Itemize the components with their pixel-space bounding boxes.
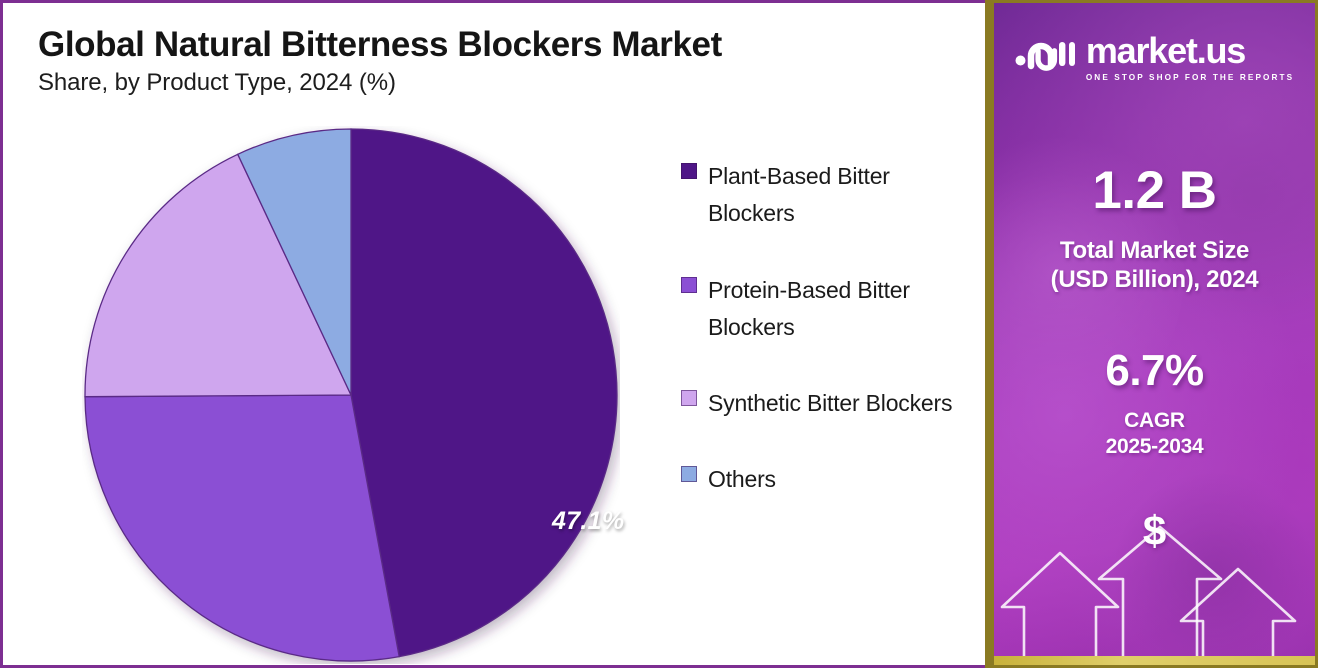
pie-slice (351, 129, 617, 657)
market-size-stat: 1.2 B Total Market Size (USD Billion), 2… (994, 163, 1315, 294)
legend-label: Protein-Based Bitter Blockers (708, 272, 971, 347)
legend-swatch-icon (681, 163, 697, 179)
market-size-caption-line2: (USD Billion), 2024 (994, 265, 1315, 294)
legend-swatch-icon (681, 466, 697, 482)
cagr-caption: CAGR 2025-2034 (994, 408, 1315, 459)
pie-svg (82, 126, 620, 664)
pie-slice-group (85, 129, 617, 661)
pie-chart: 47.1% (82, 126, 620, 664)
bottom-accent-strip (994, 656, 1315, 665)
logo-text-block: market.us ONE STOP SHOP FOR THE REPORTS (1086, 33, 1294, 82)
cagr-stat: 6.7% CAGR 2025-2034 (994, 348, 1315, 459)
pie-slice (85, 395, 399, 661)
legend-item[interactable]: Plant-Based Bitter Blockers (681, 158, 971, 233)
infographic-root: Global Natural Bitterness Blockers Marke… (0, 0, 1318, 668)
up-arrow-icon (1002, 553, 1118, 665)
legend-swatch-icon (681, 277, 697, 293)
title-block: Global Natural Bitterness Blockers Marke… (38, 25, 958, 97)
legend-swatch-icon (681, 390, 697, 406)
legend-label: Others (708, 461, 776, 498)
cagr-caption-line2: 2025-2034 (994, 434, 1315, 460)
legend-item[interactable]: Protein-Based Bitter Blockers (681, 272, 971, 347)
cagr-caption-line1: CAGR (994, 408, 1315, 434)
chart-panel: Global Natural Bitterness Blockers Marke… (0, 0, 985, 668)
growth-arrows-graphic: $ (994, 500, 1315, 665)
stats-panel: market.us ONE STOP SHOP FOR THE REPORTS … (985, 0, 1318, 668)
legend-item[interactable]: Synthetic Bitter Blockers (681, 385, 971, 422)
legend-label: Synthetic Bitter Blockers (708, 385, 952, 422)
market-size-caption: Total Market Size (USD Billion), 2024 (994, 236, 1315, 295)
cagr-value: 6.7% (994, 348, 1315, 394)
pie-data-label: 47.1% (552, 507, 624, 536)
market-size-caption-line1: Total Market Size (994, 236, 1315, 265)
arrows-svg (994, 525, 1318, 665)
market-size-value: 1.2 B (994, 163, 1315, 219)
chart-title: Global Natural Bitterness Blockers Marke… (38, 25, 958, 64)
chart-legend: Plant-Based Bitter BlockersProtein-Based… (681, 158, 971, 538)
market-us-logo-icon (1015, 34, 1075, 81)
logo-wordmark: market.us (1086, 33, 1294, 69)
legend-item[interactable]: Others (681, 461, 971, 498)
brand-logo[interactable]: market.us ONE STOP SHOP FOR THE REPORTS (994, 33, 1315, 82)
chart-subtitle: Share, by Product Type, 2024 (%) (38, 69, 958, 97)
legend-label: Plant-Based Bitter Blockers (708, 158, 971, 233)
logo-tagline: ONE STOP SHOP FOR THE REPORTS (1086, 73, 1294, 82)
